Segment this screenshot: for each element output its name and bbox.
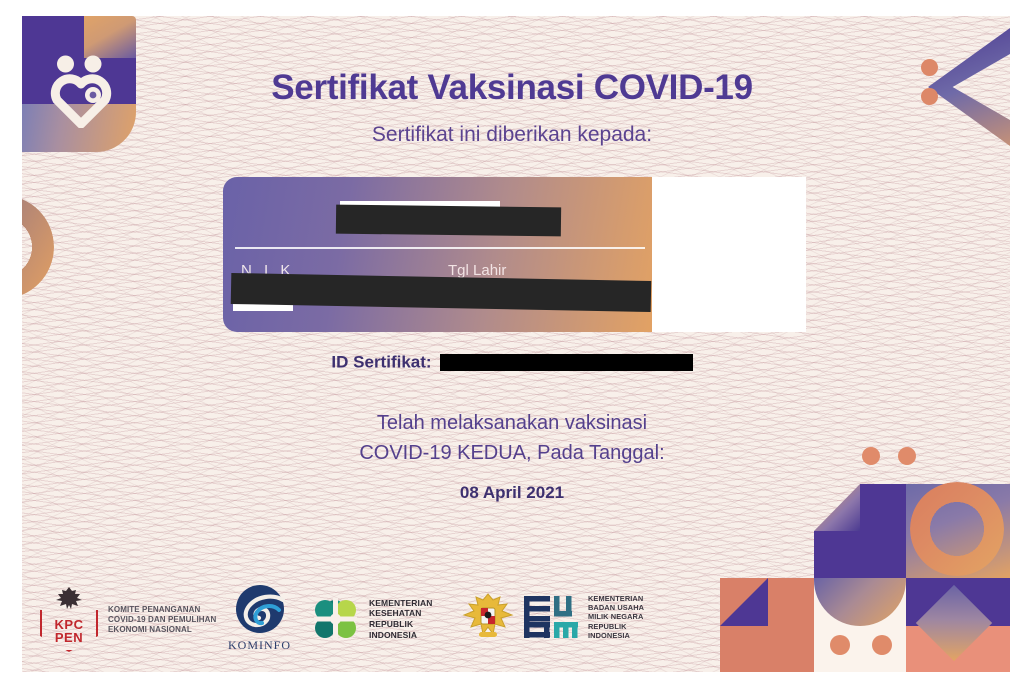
bumn-text-line5: INDONESIA bbox=[588, 631, 644, 640]
vaccination-line-1: Telah melaksanakan vaksinasi bbox=[0, 412, 1024, 435]
bumn-text: KEMENTERIAN BADAN USAHA MILIK NEGARA REP… bbox=[588, 594, 644, 640]
kemenkes-text-line2: KESEHATAN bbox=[369, 608, 432, 619]
bumn-logo: KEMENTERIAN BADAN USAHA MILIK NEGARA REP… bbox=[460, 588, 644, 646]
vaccination-certificate: Sertifikat Vaksinasi COVID-19 Sertifikat… bbox=[0, 0, 1024, 680]
kominfo-logo: KOMINFO bbox=[228, 584, 291, 653]
bumn-text-line3: MILIK NEGARA bbox=[588, 612, 644, 621]
bumn-text-line4: REPUBLIK bbox=[588, 622, 644, 631]
kpcpen-text-line2: COVID-19 DAN PEMULIHAN bbox=[108, 615, 216, 625]
geometric-block-cluster bbox=[720, 437, 1010, 672]
name-redaction-bar bbox=[336, 205, 561, 237]
kpcpen-logo: KPC PEN KOMITE PENANGANAN COVID-19 DAN P… bbox=[40, 588, 216, 652]
identity-card: N I K Tgl Lahir bbox=[223, 177, 806, 332]
footer-logo-row: KPC PEN KOMITE PENANGANAN COVID-19 DAN P… bbox=[40, 582, 650, 658]
kpcpen-acronym-line2: PEN bbox=[55, 631, 83, 644]
cluster-dot-3 bbox=[830, 635, 850, 655]
cluster-rect-purple bbox=[814, 531, 906, 578]
kemenkes-text-line4: INDONESIA bbox=[369, 630, 432, 641]
logo-tile-block-gradient bbox=[84, 16, 136, 58]
kpcpen-text-line1: KOMITE PENANGANAN bbox=[108, 605, 216, 615]
kemenkes-logo: KEMENTERIAN KESEHATAN REPUBLIK INDONESIA bbox=[312, 596, 432, 642]
identity-card-divider bbox=[235, 247, 645, 249]
certificate-id-row: ID Sertifikat: bbox=[0, 352, 1024, 373]
kemenkes-text: KEMENTERIAN KESEHATAN REPUBLIK INDONESIA bbox=[369, 598, 432, 641]
bumn-text-line2: BADAN USAHA bbox=[588, 603, 644, 612]
garuda-shield-icon: KPC PEN bbox=[40, 588, 98, 652]
identity-card-photo-area bbox=[652, 177, 806, 332]
nik-birthdate-redaction-bar bbox=[231, 273, 652, 312]
kominfo-wave-icon bbox=[233, 584, 287, 636]
garuda-icon bbox=[52, 586, 86, 610]
kpcpen-text: KOMITE PENANGANAN COVID-19 DAN PEMULIHAN… bbox=[108, 605, 216, 635]
kemenkes-flower-icon bbox=[312, 596, 360, 642]
kpcpen-acronym: KPC PEN bbox=[40, 610, 98, 652]
kpcpen-text-line3: EKONOMI NASIONAL bbox=[108, 625, 216, 635]
cluster-dot-4 bbox=[872, 635, 892, 655]
kominfo-wordmark: KOMINFO bbox=[228, 638, 291, 653]
kemenkes-text-line1: KEMENTERIAN bbox=[369, 598, 432, 609]
identity-card-gradient-panel: N I K Tgl Lahir bbox=[223, 177, 655, 332]
kemenkes-text-line3: REPUBLIK bbox=[369, 619, 432, 630]
bumn-wordmark-icon bbox=[522, 592, 580, 642]
vaccination-date: 08 April 2021 bbox=[0, 483, 1024, 503]
paper-edge-top bbox=[0, 0, 1024, 16]
page-title: Sertifikat Vaksinasi COVID-19 bbox=[0, 68, 1024, 108]
paper-edge-bottom bbox=[0, 672, 1024, 680]
certificate-id-redaction-bar bbox=[440, 354, 693, 371]
bumn-text-line1: KEMENTERIAN bbox=[588, 594, 644, 603]
cluster-salmon-top bbox=[768, 578, 814, 626]
garuda-pancasila-icon bbox=[460, 588, 516, 646]
page-subtitle: Sertifikat ini diberikan kepada: bbox=[0, 123, 1024, 147]
certificate-id-label: ID Sertifikat: bbox=[331, 353, 431, 372]
vaccination-line-2: COVID-19 KEDUA, Pada Tanggal: bbox=[0, 442, 1024, 465]
